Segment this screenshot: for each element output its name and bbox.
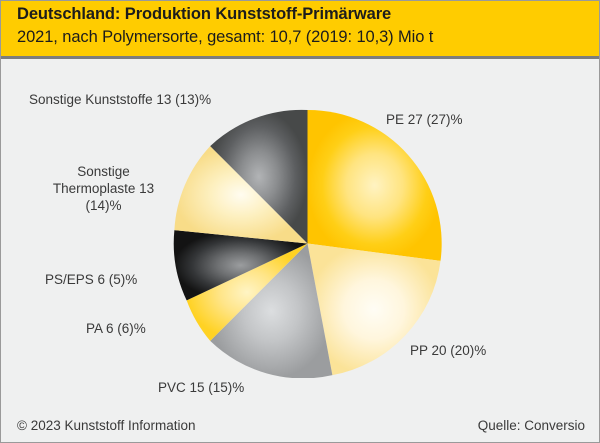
page-subtitle: 2021, nach Polymersorte, gesamt: 10,7 (2… — [17, 28, 433, 47]
chart-header: Deutschland: Produktion Kunststoff-Primä… — [1, 1, 600, 59]
chart-body: Sonstige Kunststoffe 13 (13)% Sonstige T… — [1, 62, 600, 407]
page-title: Deutschland: Produktion Kunststoff-Primä… — [17, 5, 391, 24]
pie-label-sonstige-thermoplaste: Sonstige Thermoplaste 13 (14)% — [51, 163, 156, 214]
pie-label-sonstige-kunststoffe: Sonstige Kunststoffe 13 (13)% — [29, 91, 211, 108]
pie-chart — [173, 109, 442, 378]
pie-slice-pe — [308, 110, 442, 261]
pie-label-pvc: PVC 15 (15)% — [158, 379, 244, 396]
source-note: Quelle: Conversio — [478, 418, 585, 433]
copyright-notice: © 2023 Kunststoff Information — [17, 418, 196, 433]
pie-label-pe: PE 27 (27)% — [386, 111, 463, 128]
chart-page: Deutschland: Produktion Kunststoff-Primä… — [0, 0, 600, 443]
pie-chart-svg — [173, 109, 442, 378]
pie-label-ps-eps: PS/EPS 6 (5)% — [45, 271, 137, 288]
chart-footer: © 2023 Kunststoff Information Quelle: Co… — [1, 407, 600, 443]
pie-label-pp: PP 20 (20)% — [410, 342, 486, 359]
pie-label-pa: PA 6 (6)% — [86, 320, 146, 337]
